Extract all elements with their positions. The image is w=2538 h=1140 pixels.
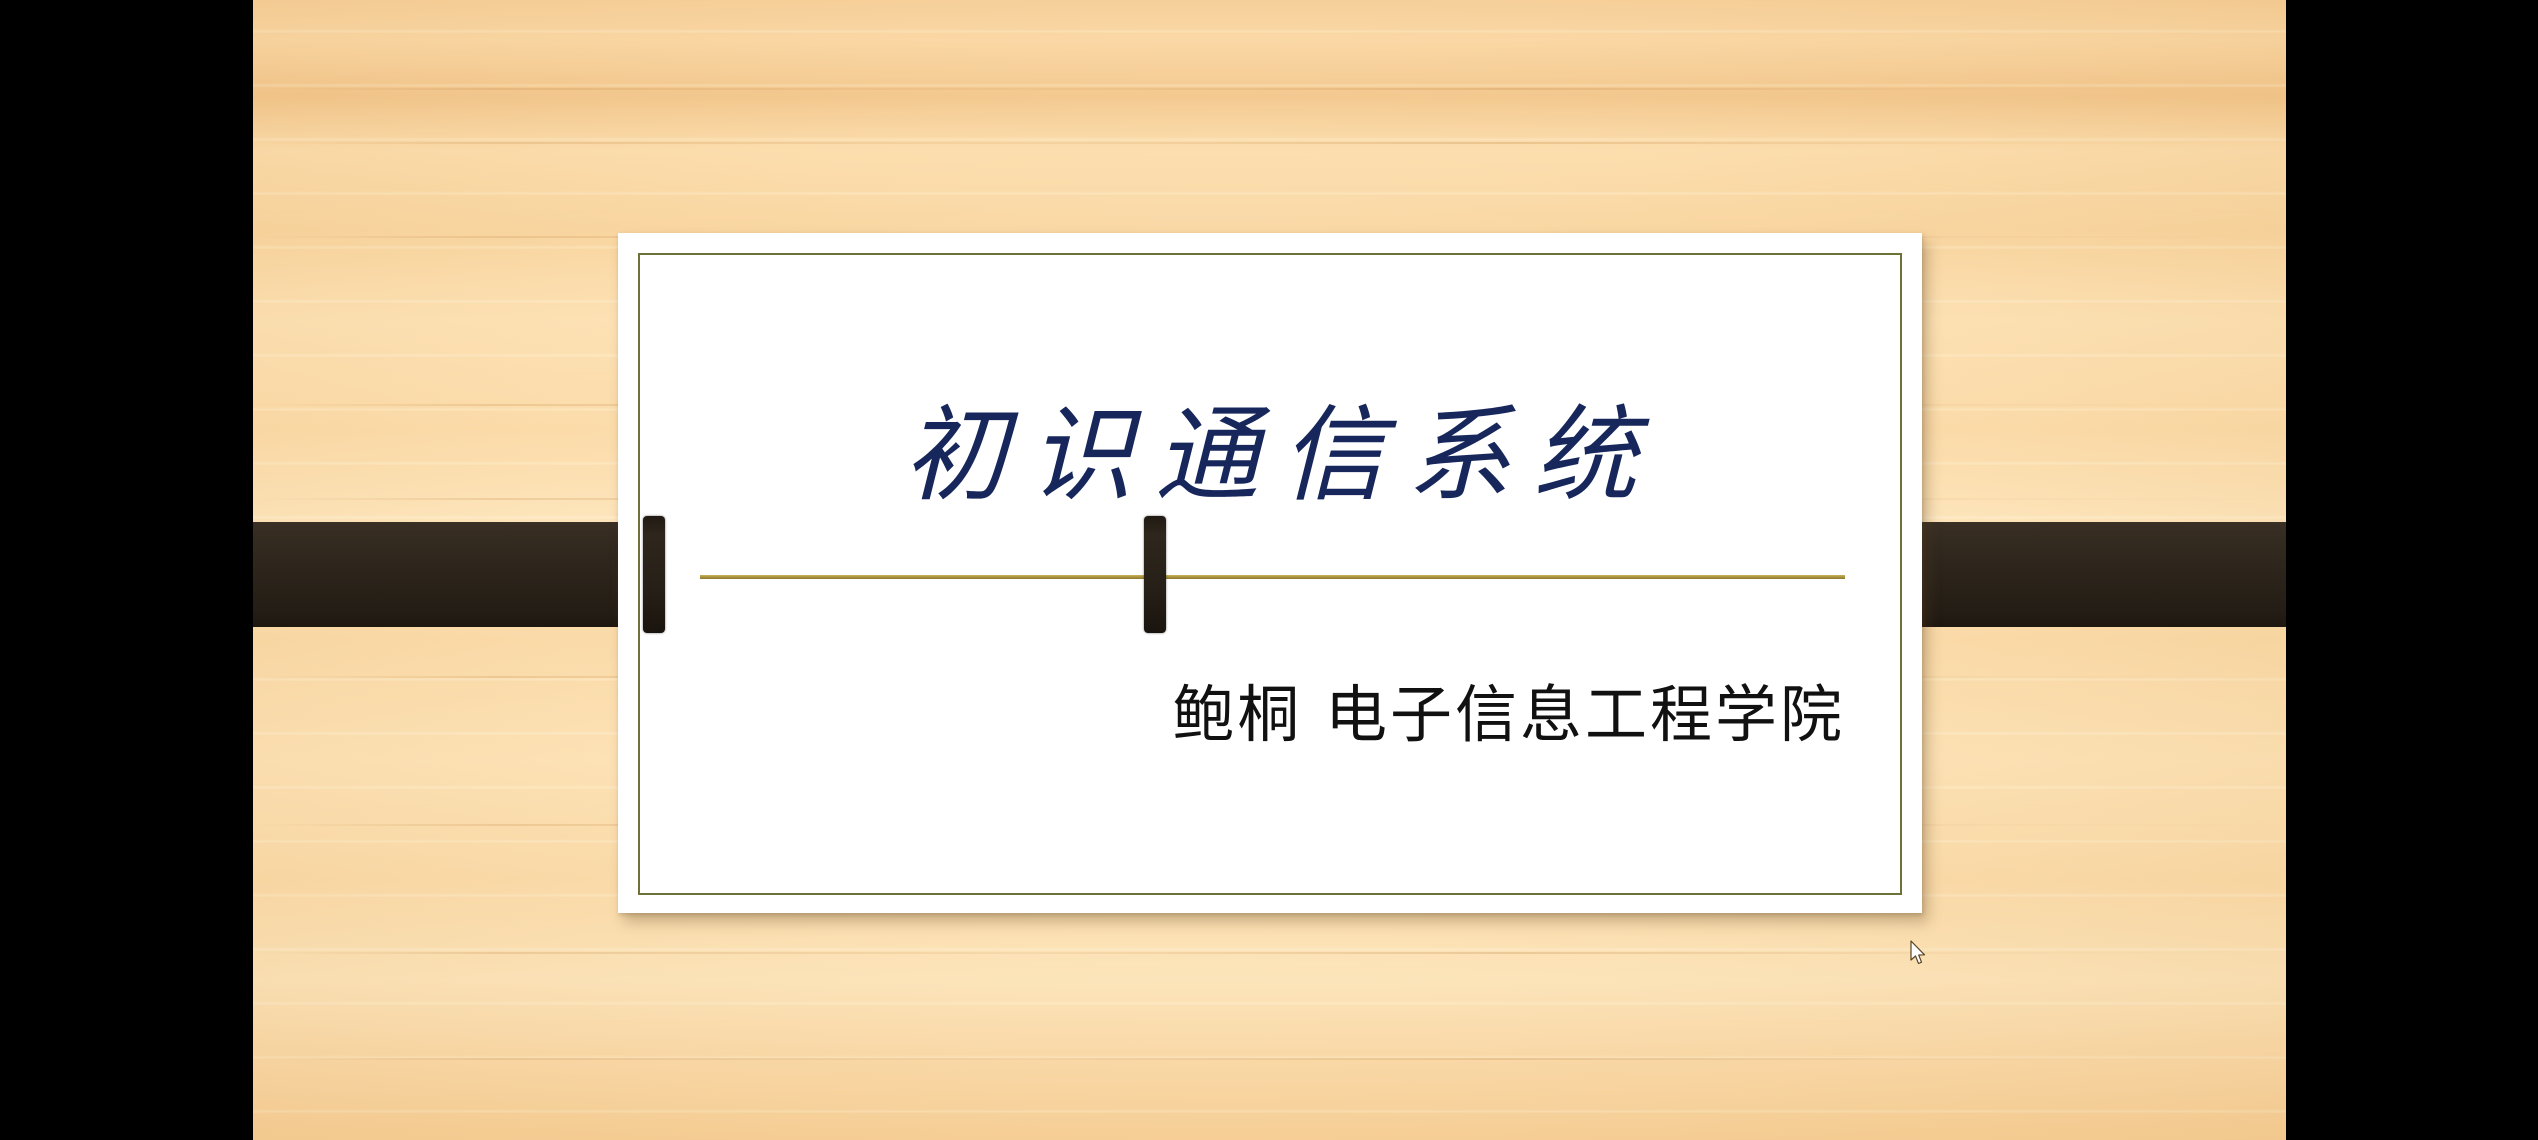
letterbox-bar-right: [2286, 0, 2538, 1140]
slide-viewer: 初识通信系统 鲍桐 电子信息工程学院: [0, 0, 2538, 1140]
title-underline: [700, 575, 1845, 579]
letterbox-bar-left: [0, 0, 253, 1140]
slide-canvas[interactable]: 初识通信系统 鲍桐 电子信息工程学院: [253, 0, 2286, 1140]
slide-subtitle: 鲍桐 电子信息工程学院: [1172, 681, 1845, 749]
card-content: 初识通信系统 鲍桐 电子信息工程学院: [618, 233, 1922, 913]
title-card: 初识通信系统 鲍桐 电子信息工程学院: [618, 233, 1922, 913]
ribbon-tab-left: [643, 516, 665, 633]
slide-title: 初识通信系统: [618, 401, 1922, 510]
ribbon-tab-right: [1144, 516, 1166, 633]
